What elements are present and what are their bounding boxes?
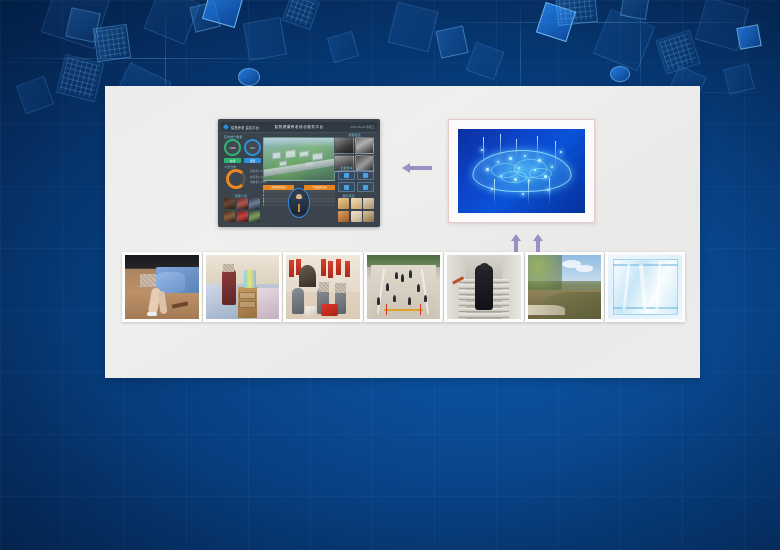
dashboard-logo-text: 智慧养老 监控平台 — [231, 125, 259, 130]
person-thumb[interactable] — [237, 198, 248, 209]
dashboard-header-date: 2021-06-18 星期五 — [351, 125, 374, 129]
photo4-person — [395, 272, 398, 280]
bg-ellipse-1 — [238, 68, 260, 86]
light-beam — [483, 137, 484, 166]
featured-person-avatar[interactable] — [288, 188, 310, 218]
photo5-step — [459, 313, 509, 317]
module-icon[interactable] — [338, 182, 355, 192]
photo3-decoration — [321, 259, 326, 276]
scenario-photo-strip — [122, 252, 685, 330]
bg-square-15 — [536, 2, 576, 42]
network-node — [486, 168, 489, 171]
photo3-arch — [299, 265, 315, 287]
camera-feed[interactable] — [355, 137, 375, 154]
alert-people-grid[interactable] — [224, 198, 260, 222]
photo4-barrier — [384, 309, 422, 311]
bg-square-7 — [16, 76, 54, 114]
dashboard-logo: 智慧养老 监控平台 — [223, 124, 259, 130]
photo-blank-placeholder[interactable] — [605, 252, 685, 322]
photo-aerial-plaza[interactable] — [364, 252, 444, 322]
ai-brain-card[interactable] — [448, 119, 595, 223]
photo2-bottles — [244, 270, 256, 288]
photo-park-lake[interactable] — [525, 252, 605, 322]
network-node — [514, 178, 517, 181]
module-icon-grid[interactable] — [338, 170, 374, 192]
photo3-person — [292, 288, 304, 314]
bg-line-h1 — [0, 58, 300, 59]
ai-brain-image — [458, 129, 585, 213]
photo2-dresser — [238, 287, 257, 318]
module-icon[interactable] — [357, 182, 374, 192]
photo4-person — [408, 297, 411, 305]
bg-square-21 — [736, 24, 761, 49]
photo7-bar — [613, 264, 678, 266]
photo2-face-mosaic — [223, 264, 234, 272]
person-thumb[interactable] — [237, 211, 248, 222]
photo1-shoe — [147, 312, 157, 316]
service-item-grid[interactable] — [338, 198, 374, 222]
bg-square-3 — [93, 24, 131, 62]
map-sky — [264, 138, 334, 147]
bg-ellipse-2 — [610, 66, 630, 82]
photo2-person — [222, 268, 237, 305]
light-beam — [494, 179, 495, 204]
map-building — [272, 152, 281, 160]
city-3d-map[interactable] — [263, 137, 335, 181]
gauge-online[interactable]: 1286 在线 — [224, 139, 241, 163]
photo5-person-head — [480, 263, 489, 270]
gauge-alarm-label[interactable]: 报警 — [244, 158, 261, 163]
bg-square-23 — [723, 63, 755, 95]
photo-decorated-room[interactable] — [283, 252, 363, 322]
service-thumb[interactable] — [351, 198, 362, 209]
bg-line-h2 — [420, 22, 780, 23]
bg-square-16 — [554, 0, 598, 26]
camera-feed[interactable] — [334, 137, 354, 154]
person-thumb[interactable] — [224, 211, 235, 222]
bg-square-13 — [388, 2, 439, 53]
photo3-decoration — [336, 259, 341, 276]
service-thumb[interactable] — [363, 211, 374, 222]
diamond-logo-icon — [223, 124, 229, 130]
bg-square-11 — [282, 0, 320, 30]
bg-square-9 — [202, 0, 244, 28]
table-row[interactable] — [263, 190, 294, 193]
content-slide-panel: 智慧养老 监控平台 智慧健康养老综合服务平台 2021-06-18 星期五 实时… — [105, 86, 700, 378]
photo5-person — [475, 265, 493, 310]
network-node — [509, 157, 512, 160]
bg-square-14 — [435, 25, 468, 58]
photo2-drawer — [239, 292, 255, 299]
person-thumb[interactable] — [249, 211, 260, 222]
network-node — [551, 166, 553, 168]
brain-fold — [501, 171, 526, 183]
person-thumb[interactable] — [249, 198, 260, 209]
module-icon[interactable] — [357, 170, 374, 180]
photo4-person — [424, 295, 427, 303]
photo4-person — [377, 297, 380, 305]
photo4-person — [386, 283, 389, 291]
map-building — [299, 150, 309, 158]
bg-square-19 — [655, 29, 700, 74]
bg-square-6 — [56, 54, 104, 102]
photo3-red-box — [321, 304, 337, 317]
photo4-post — [386, 304, 387, 316]
photo3-face-mosaic — [335, 283, 345, 293]
light-beam — [549, 178, 550, 205]
module-glyph-icon — [344, 185, 349, 190]
bg-line-v3 — [640, 0, 641, 100]
service-thumb[interactable] — [338, 211, 349, 222]
bg-square-10 — [243, 17, 287, 61]
photo6-willow-trees — [528, 255, 562, 292]
photo4-person — [401, 274, 404, 282]
bg-square-5 — [189, 1, 221, 33]
arrow-left-icon — [400, 160, 434, 176]
network-node — [560, 151, 562, 153]
service-table-header: 今日服务记录 — [304, 185, 335, 190]
module-glyph-icon — [363, 185, 368, 190]
map-building — [285, 149, 296, 158]
person-thumb[interactable] — [224, 198, 235, 209]
photo4-person — [393, 295, 396, 303]
photo-man-on-stairs[interactable] — [444, 252, 524, 322]
gauge-online-label[interactable]: 在线 — [224, 158, 241, 163]
photo3-decoration — [328, 261, 333, 278]
gauge-alarm-value: 372 — [244, 139, 261, 156]
light-beam — [516, 139, 517, 157]
bg-square-20 — [695, 0, 749, 51]
service-thumb[interactable] — [363, 198, 374, 209]
photo1-leg — [157, 290, 167, 314]
photo3-decoration — [289, 260, 294, 277]
dashboard-screenshot[interactable]: 智慧养老 监控平台 智慧健康养老综合服务平台 2021-06-18 星期五 实时… — [218, 119, 380, 227]
bg-square-18 — [620, 0, 650, 20]
module-icon[interactable] — [338, 170, 355, 180]
photo2-drawer — [239, 301, 255, 308]
light-beam — [500, 134, 501, 158]
slide-canvas: 智慧养老 监控平台 智慧健康养老综合服务平台 2021-06-18 星期五 实时… — [0, 0, 780, 550]
alarm-table-header: 实时报警信息 — [263, 185, 294, 190]
donut-chart — [226, 169, 246, 189]
photo3-bucket — [305, 306, 316, 318]
network-node — [518, 167, 520, 169]
avatar-tie — [298, 204, 300, 212]
bg-square-12 — [327, 31, 359, 63]
light-beam — [537, 136, 538, 158]
bg-square-1 — [41, 0, 112, 49]
service-thumb[interactable] — [351, 211, 362, 222]
bg-square-24 — [466, 42, 504, 80]
photo3-face-mosaic — [319, 282, 329, 292]
dashboard-title: 智慧健康养老综合服务平台 — [274, 125, 323, 130]
photo6-cloud — [576, 265, 592, 271]
gauge-alarm[interactable]: 372 报警 — [244, 139, 261, 163]
gauge-online-value: 1286 — [224, 139, 241, 156]
bg-square-4 — [143, 0, 200, 45]
network-node — [522, 193, 524, 195]
bg-square-2 — [65, 7, 101, 43]
photo1-object — [172, 301, 189, 309]
service-thumb[interactable] — [338, 198, 349, 209]
photo4-person — [417, 284, 420, 292]
table-row[interactable] — [304, 190, 335, 193]
module-glyph-icon — [363, 173, 368, 178]
photo3-decoration — [345, 261, 350, 278]
map-road — [263, 158, 335, 178]
photo-fallen-person[interactable] — [122, 252, 202, 322]
light-beam — [528, 181, 529, 205]
photo6-path — [528, 305, 565, 315]
bg-square-17 — [593, 9, 655, 71]
photo2-wall — [206, 255, 280, 284]
photo1-face-mosaic — [140, 274, 156, 287]
photo-person-on-bed[interactable] — [203, 252, 283, 322]
module-glyph-icon — [344, 173, 349, 178]
photo4-post — [420, 304, 421, 316]
light-beam — [555, 141, 556, 166]
